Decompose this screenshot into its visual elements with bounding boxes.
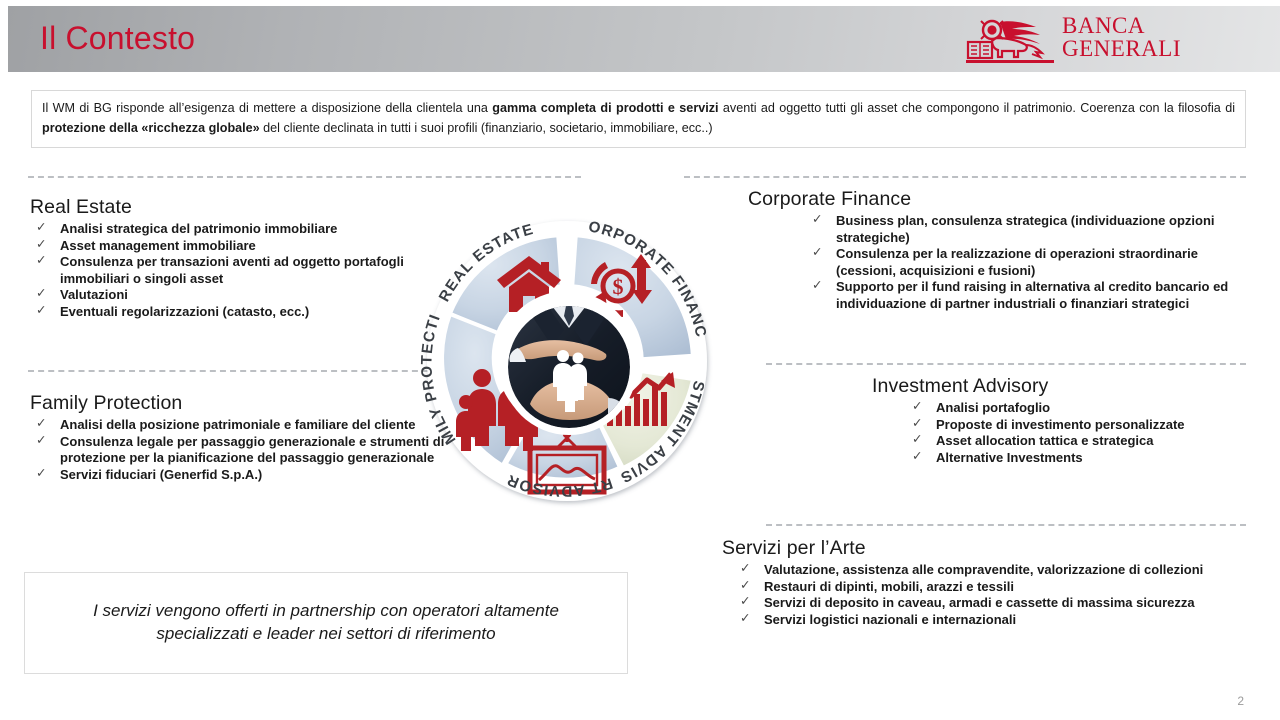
list-item: ✓Consulenza per transazioni aventi ad og… [30,254,450,287]
slide-header: Il Contesto [8,6,1280,72]
list-family-protection: ✓Analisi della posizione patrimoniale e … [30,417,450,483]
list-item: ✓Eventuali regolarizzazioni (catasto, ec… [30,304,450,321]
section-title-family-protection: Family Protection [30,392,450,415]
banca-generali-logo: BANCA GENERALI [966,16,1222,66]
list-item-text: Consulenza per transazioni aventi ad ogg… [60,254,404,286]
divider-family-protection [28,370,428,372]
winged-lion-icon [966,18,1056,64]
list-item-text: Asset management immobiliare [60,238,256,253]
list-item: ✓Supporto per il fund raising in alterna… [806,279,1248,312]
logo-line-2: GENERALI [1062,38,1181,61]
list-item-text: Analisi portafoglio [936,400,1050,415]
divider-servizi-arte [766,524,1246,526]
check-icon: ✓ [740,561,750,577]
section-title-corporate-finance: Corporate Finance [748,188,1248,211]
list-item: ✓Analisi strategica del patrimonio immob… [30,221,450,238]
partnership-quote-box: I servizi vengono offerti in partnership… [24,572,628,674]
list-item-text: Alternative Investments [936,450,1083,465]
check-icon: ✓ [912,432,922,448]
list-item: ✓Consulenza legale per passaggio generaz… [30,434,450,467]
list-item: ✓Restauri di dipinti, mobili, arazzi e t… [734,579,1252,596]
list-item-text: Proposte di investimento personalizzate [936,417,1185,432]
check-icon: ✓ [36,220,46,236]
logo-line-1: BANCA [1062,15,1181,38]
check-icon: ✓ [36,253,46,269]
list-servizi-per-l-arte: ✓Valutazione, assistenza alle compravend… [734,562,1252,628]
check-icon: ✓ [912,416,922,432]
slide: Il Contesto [0,0,1280,720]
list-item-text: Servizi di deposito in caveau, armadi e … [764,595,1195,610]
services-wheel-diagram: $ [404,196,730,536]
check-icon: ✓ [912,399,922,415]
list-investment-advisory: ✓Analisi portafoglio ✓Proposte di invest… [906,400,1202,466]
check-icon: ✓ [812,278,822,294]
list-item: ✓Asset allocation tattica e strategica [906,433,1202,450]
intro-bold-1: gamma completa di prodotti e servizi [492,101,718,115]
list-item-text: Restauri di dipinti, mobili, arazzi e te… [764,579,1014,594]
list-item: ✓Analisi della posizione patrimoniale e … [30,417,450,434]
list-item-text: Eventuali regolarizzazioni (catasto, ecc… [60,304,309,319]
list-item: ✓Servizi di deposito in caveau, armadi e… [734,595,1252,612]
divider-real-estate [28,176,581,178]
list-item-text: Servizi fiduciari (Generfid S.p.A.) [60,467,262,482]
check-icon: ✓ [812,245,822,261]
page-number: 2 [1237,694,1244,708]
intro-text-box: Il WM di BG risponde all’esigenza di met… [31,90,1246,148]
section-family-protection: Family Protection ✓Analisi della posizio… [30,392,450,483]
intro-bold-2: protezione della «ricchezza globale» [42,121,260,135]
list-real-estate: ✓Analisi strategica del patrimonio immob… [30,221,450,320]
check-icon: ✓ [740,578,750,594]
list-item: ✓Alternative Investments [906,450,1202,467]
list-corporate-finance: ✓Business plan, consulenza strategica (i… [806,213,1248,312]
section-corporate-finance: Corporate Finance ✓Business plan, consul… [748,188,1248,312]
section-investment-advisory: Investment Advisory ✓Analisi portafoglio… [872,375,1202,466]
list-item: ✓Analisi portafoglio [906,400,1202,417]
check-icon: ✓ [36,237,46,253]
list-item-text: Valutazioni [60,287,128,302]
section-title-servizi-per-l-arte: Servizi per l’Arte [722,537,1252,560]
list-item: ✓Valutazioni [30,287,450,304]
list-item-text: Servizi logistici nazionali e internazio… [764,612,1016,627]
logo-wordmark: BANCA GENERALI [1062,15,1181,60]
check-icon: ✓ [36,433,46,449]
divider-investment-advisory [766,363,1246,365]
list-item: ✓Servizi logistici nazionali e internazi… [734,612,1252,629]
list-item: ✓Asset management immobiliare [30,238,450,255]
list-item-text: Supporto per il fund raising in alternat… [836,279,1228,311]
check-icon: ✓ [740,594,750,610]
protecting-hands-family-photo [508,306,630,428]
check-icon: ✓ [36,303,46,319]
intro-part-2: aventi ad oggetto tutti gli asset che co… [719,101,1235,115]
list-item-text: Analisi della posizione patrimoniale e f… [60,417,415,432]
intro-part-3: del cliente declinata in tutti i suoi pr… [260,121,713,135]
section-title-investment-advisory: Investment Advisory [872,375,1202,398]
list-item: ✓Proposte di investimento personalizzate [906,417,1202,434]
check-icon: ✓ [36,416,46,432]
section-servizi-per-l-arte: Servizi per l’Arte ✓Valutazione, assiste… [722,537,1252,628]
section-title-real-estate: Real Estate [30,196,450,219]
list-item: ✓Servizi fiduciari (Generfid S.p.A.) [30,467,450,484]
list-item-text: Consulenza legale per passaggio generazi… [60,434,444,466]
list-item: ✓Valutazione, assistenza alle compravend… [734,562,1252,579]
page-title: Il Contesto [40,20,195,57]
intro-part-1: Il WM di BG risponde all’esigenza di met… [42,101,492,115]
partnership-quote-text: I servizi vengono offerti in partnership… [25,600,627,645]
list-item-text: Valutazione, assistenza alle compravendi… [764,562,1203,577]
svg-text:$: $ [613,274,624,299]
list-item: ✓Business plan, consulenza strategica (i… [806,213,1248,246]
list-item-text: Business plan, consulenza strategica (in… [836,213,1215,245]
check-icon: ✓ [36,466,46,482]
list-item: ✓Consulenza per la realizzazione di oper… [806,246,1248,279]
check-icon: ✓ [812,212,822,228]
divider-corporate-finance [684,176,1246,178]
check-icon: ✓ [36,286,46,302]
list-item-text: Asset allocation tattica e strategica [936,433,1153,448]
check-icon: ✓ [912,449,922,465]
list-item-text: Analisi strategica del patrimonio immobi… [60,221,337,236]
check-icon: ✓ [740,611,750,627]
list-item-text: Consulenza per la realizzazione di opera… [836,246,1198,278]
section-real-estate: Real Estate ✓Analisi strategica del patr… [30,196,450,320]
